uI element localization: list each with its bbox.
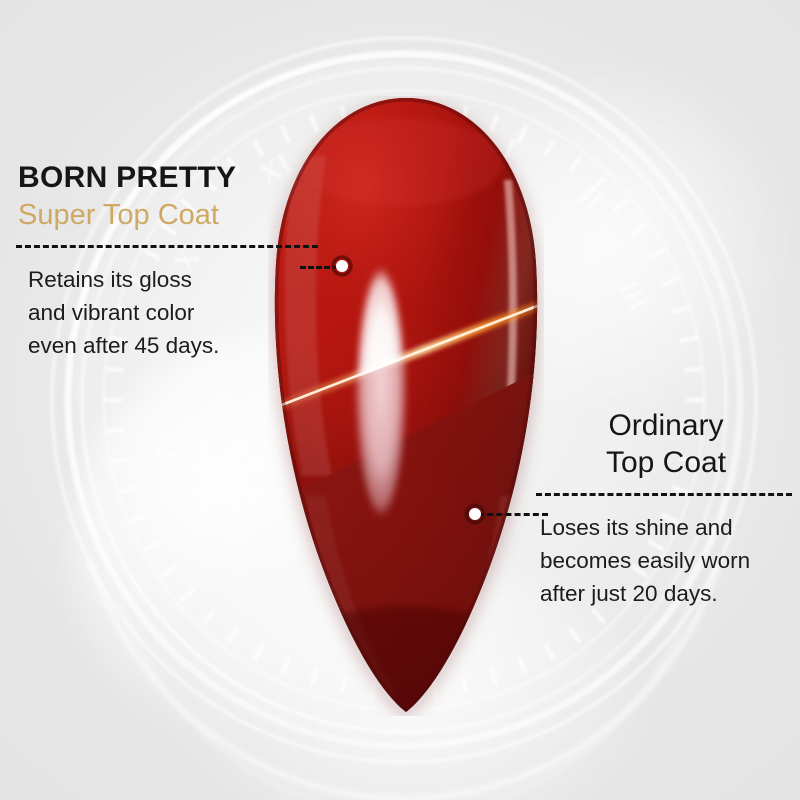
ordinary-title: Ordinary Top Coat [540, 408, 792, 481]
nail-tip-shade [268, 606, 544, 716]
desc-line-2: and vibrant color [28, 300, 194, 325]
super-top-coat-description: Retains its gloss and vibrant color even… [28, 264, 318, 363]
product-name: Super Top Coat [18, 200, 318, 231]
connector-line-right [478, 513, 548, 516]
numeral-II: II [573, 179, 610, 217]
nail-center-highlight [356, 266, 406, 526]
desc-line-3: even after 45 days. [28, 333, 219, 358]
ordinary-top-coat-description: Loses its shine and becomes easily worn … [540, 512, 792, 611]
desc-line-1: Loses its shine and [540, 515, 733, 540]
desc-line-1: Retains its gloss [28, 267, 192, 292]
desc-line-3: after just 20 days. [540, 581, 718, 606]
divider-rule-left [16, 245, 318, 248]
nail-top-sheen [296, 118, 504, 206]
desc-line-2: becomes easily worn [540, 548, 750, 573]
brand-name: BORN PRETTY [18, 162, 318, 194]
ordinary-title-line-1: Ordinary [608, 409, 723, 442]
ordinary-top-coat-panel: Ordinary Top Coat Loses its shine and be… [540, 408, 792, 611]
numeral-III: III [612, 275, 655, 317]
ordinary-title-line-2: Top Coat [606, 446, 726, 479]
product-comparison-image: XII XI X IX III II I [0, 0, 800, 800]
numeral-IX: IX [149, 424, 188, 462]
divider-rule-right [536, 493, 792, 496]
marker-super-top-coat[interactable] [331, 255, 353, 277]
marker-ordinary-top-coat[interactable] [464, 503, 486, 525]
super-top-coat-panel: BORN PRETTY Super Top Coat Retains its g… [18, 162, 318, 362]
